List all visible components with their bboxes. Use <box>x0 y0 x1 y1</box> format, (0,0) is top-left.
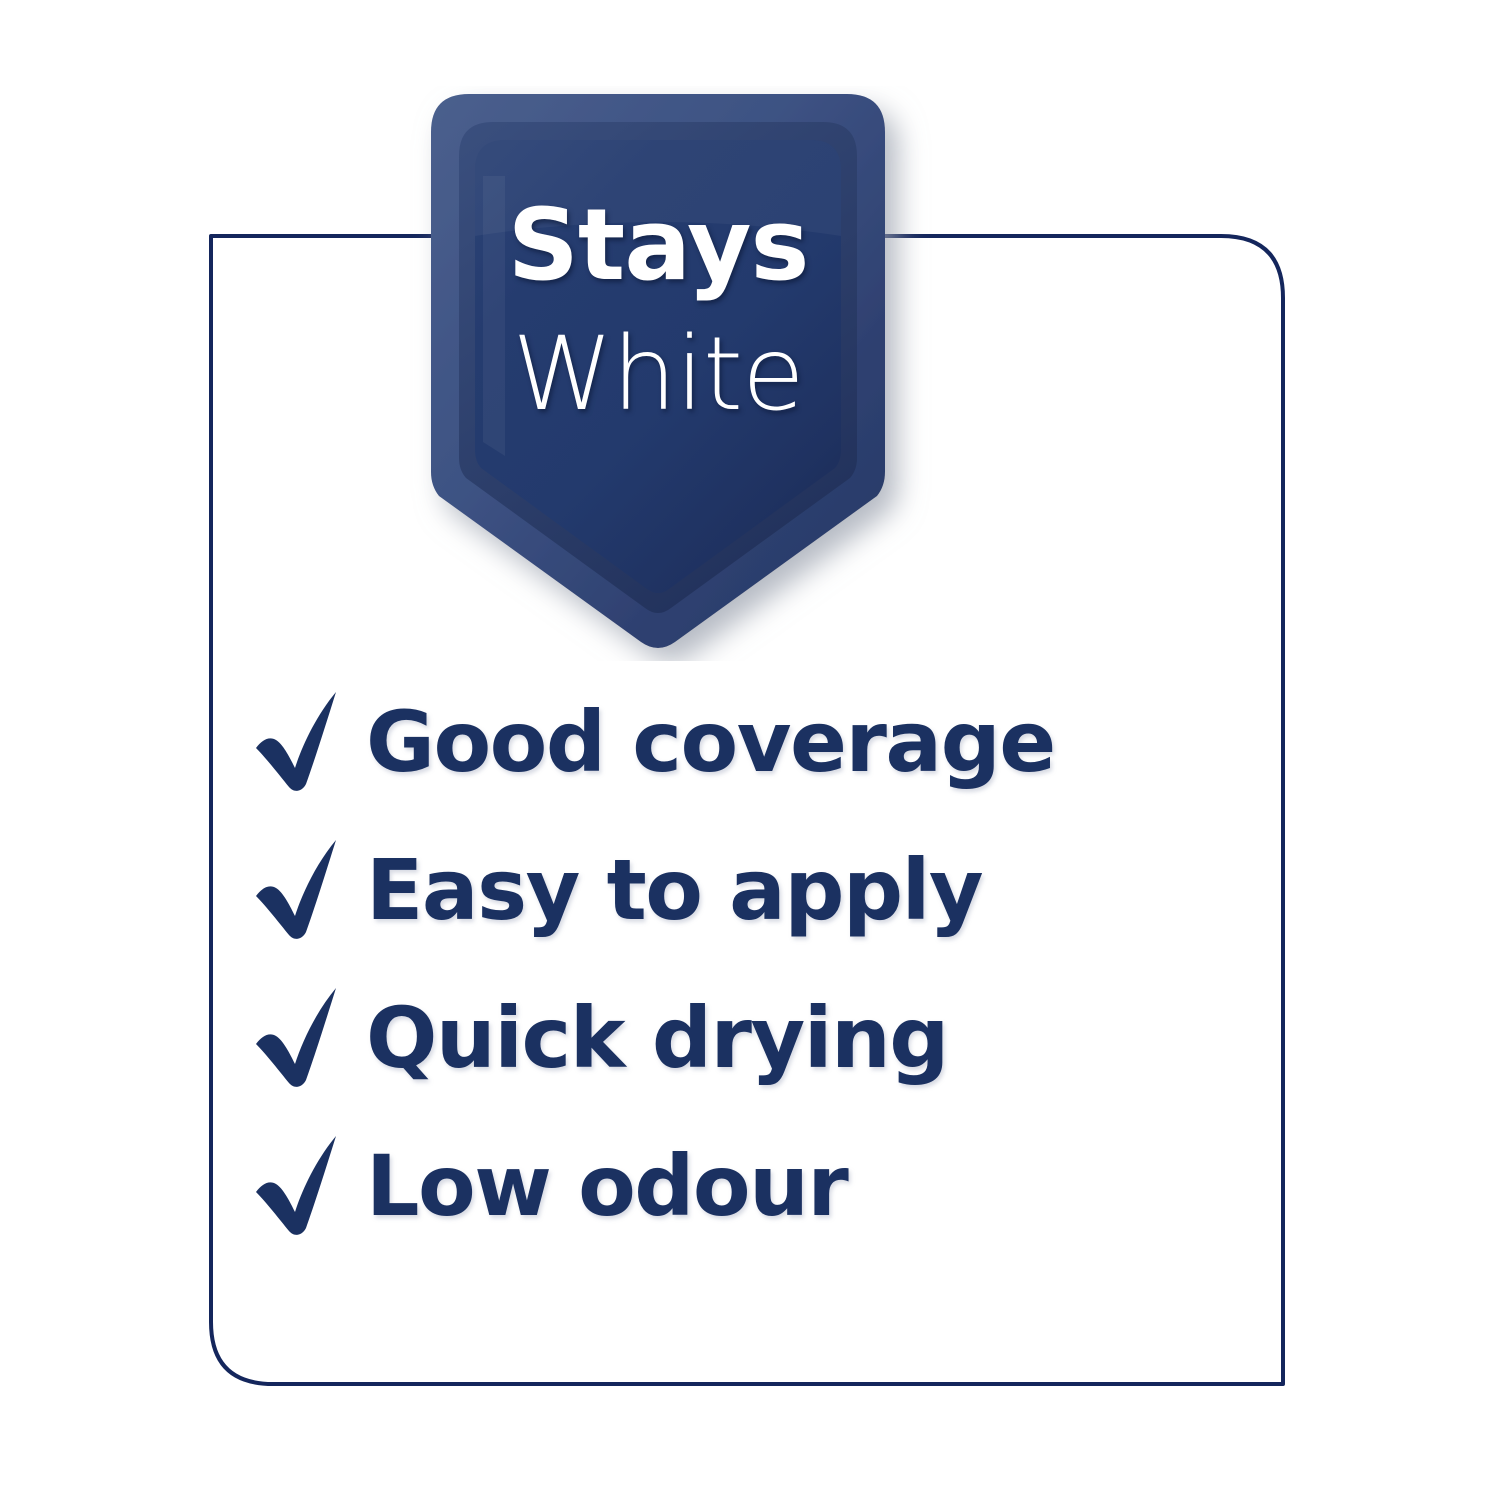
feature-list-item: Easy to apply <box>252 816 1252 964</box>
feature-label: Low odour <box>366 1144 847 1228</box>
stays-white-badge: Stays White <box>383 86 933 661</box>
checkmark-icon <box>252 690 344 794</box>
promo-feature-panel: Stays White Good coverage Easy to apply … <box>0 0 1500 1500</box>
feature-list-item: Good coverage <box>252 668 1252 816</box>
feature-label: Quick drying <box>366 996 948 1080</box>
feature-label: Good coverage <box>366 700 1055 784</box>
checkmark-icon <box>252 838 344 942</box>
shield-edge-highlight <box>483 176 505 456</box>
feature-label: Easy to apply <box>366 848 982 932</box>
shield-sheen <box>475 140 841 236</box>
checkmark-icon <box>252 986 344 1090</box>
feature-list-item: Quick drying <box>252 964 1252 1112</box>
shield-icon <box>383 86 933 661</box>
feature-list-item: Low odour <box>252 1112 1252 1260</box>
checkmark-icon <box>252 1134 344 1238</box>
feature-list: Good coverage Easy to apply Quick drying… <box>252 668 1252 1260</box>
